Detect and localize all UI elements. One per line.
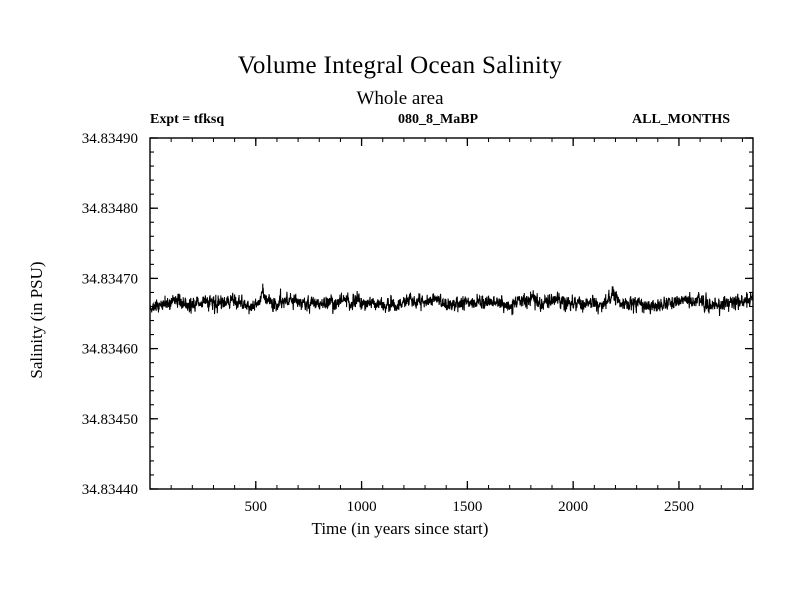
plot-svg: 34.8344034.8345034.8346034.8347034.83480… [0, 0, 800, 600]
y-tick-label: 34.83480 [82, 201, 138, 217]
x-tick-label: 2500 [664, 499, 694, 515]
x-tick-label: 1500 [452, 499, 482, 515]
salinity-line [150, 284, 753, 316]
x-tick-label-group: 5001000150020002500 [245, 499, 694, 515]
salinity-timeseries-figure: Volume Integral Ocean Salinity Whole are… [0, 0, 800, 600]
y-tick-label: 34.83490 [82, 131, 138, 147]
axis-tick-group [150, 138, 753, 489]
y-tick-label: 34.83470 [82, 271, 138, 287]
y-tick-label: 34.83440 [82, 482, 138, 498]
y-tick-label: 34.83460 [82, 342, 138, 358]
x-tick-label: 1000 [347, 499, 377, 515]
plot-frame [150, 138, 753, 489]
x-tick-label: 2000 [558, 499, 588, 515]
x-tick-label: 500 [245, 499, 268, 515]
y-tick-label: 34.83450 [82, 412, 138, 428]
y-tick-label-group: 34.8344034.8345034.8346034.8347034.83480… [82, 131, 138, 498]
